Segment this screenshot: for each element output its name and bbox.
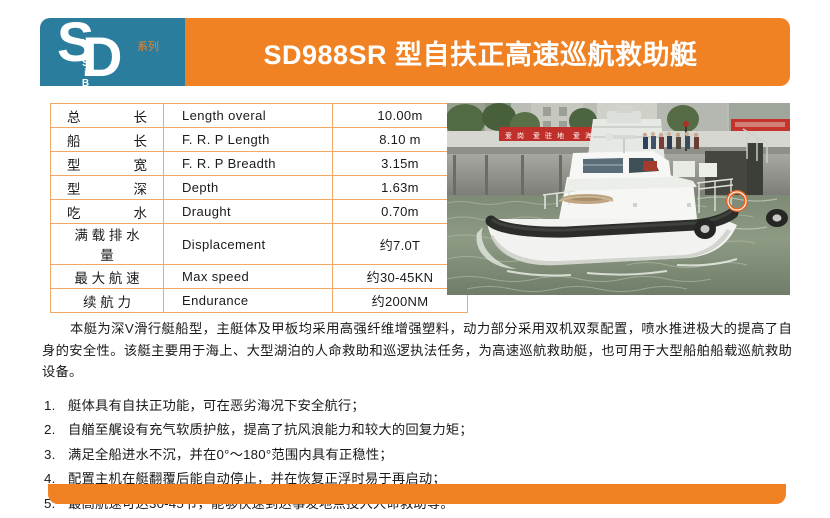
table-row: 型深 Depth 1.63m: [51, 176, 468, 200]
specification-table-body: 总长 Length overal 10.00m 船长 F. R. P Lengt…: [51, 104, 468, 313]
table-row: 续 航 力 Endurance 约200NM: [51, 289, 468, 313]
svg-text:驻: 驻: [545, 131, 552, 140]
logo-series-label: 系列: [137, 42, 159, 54]
spec-label-cn: 最 大 航 速: [51, 265, 164, 289]
spec-label-cn-char2: 宽: [134, 154, 148, 174]
list-item: 2. 自艏至艉设有充气软质护舷，提高了抗风浪能力和较大的回复力矩；: [42, 420, 792, 440]
list-item: 1. 艇体具有自扶正功能，可在恶劣海况下安全航行；: [42, 396, 792, 416]
table-row: 满 载 排 水 量 Displacement 约7.0T: [51, 224, 468, 265]
svg-text:岗: 岗: [517, 132, 524, 140]
boat-photo: 爱岗 爱驻地 爱海洋: [447, 103, 790, 295]
spec-label-cn-full: 续 航 力: [83, 291, 131, 311]
list-item-number: 2.: [42, 420, 68, 440]
spec-label-cn-char2: 水: [134, 202, 148, 222]
list-item: 3. 满足全船进水不沉，并在0°～180°范围内具有正稳性；: [42, 445, 792, 465]
svg-text:爱: 爱: [533, 132, 540, 140]
spec-label-cn: 型深: [51, 176, 164, 200]
logo-brand-vertical-text: HiSiBi: [80, 38, 90, 86]
specification-table: 总长 Length overal 10.00m 船长 F. R. P Lengt…: [50, 103, 468, 313]
table-row: 型宽 F. R. P Breadth 3.15m: [51, 152, 468, 176]
title-banner: SD988SR 型自扶正高速巡航救助艇: [185, 18, 790, 86]
spec-label-en: F. R. P Breadth: [164, 152, 333, 176]
spec-label-cn: 型宽: [51, 152, 164, 176]
table-row: 船长 F. R. P Length 8.10 m: [51, 128, 468, 152]
spec-label-cn-char1: 吃: [67, 202, 81, 222]
page-header: S D HiSiBi 系列 SD988SR 型自扶正高速巡航救助艇: [40, 18, 790, 86]
list-item-number: 1.: [42, 396, 68, 416]
spec-label-en: Length overal: [164, 104, 333, 128]
spec-label-en: Endurance: [164, 289, 333, 313]
spec-label-cn: 船长: [51, 128, 164, 152]
list-item-text: 自艏至艉设有充气软质护舷，提高了抗风浪能力和较大的回复力矩；: [68, 420, 792, 440]
spec-label-en: Depth: [164, 176, 333, 200]
spec-label-en: Max speed: [164, 265, 333, 289]
spec-label-cn-full: 满 载 排 水 量: [67, 224, 147, 264]
svg-text:地: 地: [557, 131, 564, 140]
page-title: SD988SR 型自扶正高速巡航救助艇: [263, 33, 697, 72]
spec-label-cn: 吃水: [51, 200, 164, 224]
spec-label-cn-char1: 型: [67, 178, 81, 198]
spec-label-en: Displacement: [164, 224, 333, 265]
spec-label-cn-char2: 长: [134, 130, 148, 150]
svg-text:爱: 爱: [573, 132, 580, 140]
spec-label-cn-full: 最 大 航 速: [74, 267, 139, 287]
spec-label-cn: 满 载 排 水 量: [51, 224, 164, 265]
company-logo: S D HiSiBi 系列: [40, 18, 185, 86]
list-item-number: 3.: [42, 445, 68, 465]
footer-bar: [48, 484, 786, 504]
spec-label-cn: 续 航 力: [51, 289, 164, 313]
svg-text:爱: 爱: [505, 132, 512, 140]
table-row: 最 大 航 速 Max speed 约30-45KN: [51, 265, 468, 289]
table-row: 总长 Length overal 10.00m: [51, 104, 468, 128]
content-row: 总长 Length overal 10.00m 船长 F. R. P Lengt…: [50, 103, 790, 295]
spec-label-cn: 总长: [51, 104, 164, 128]
spec-label-en: Draught: [164, 200, 333, 224]
spec-label-cn-char1: 总: [67, 106, 81, 126]
table-row: 吃水 Draught 0.70m: [51, 200, 468, 224]
spec-label-cn-char1: 船: [67, 130, 81, 150]
list-item-text: 艇体具有自扶正功能，可在恶劣海况下安全航行；: [68, 396, 792, 416]
spec-label-en: F. R. P Length: [164, 128, 333, 152]
spec-label-cn-char1: 型: [67, 154, 81, 174]
spec-label-cn-char2: 深: [134, 178, 148, 198]
list-item-text: 满足全船进水不沉，并在0°～180°范围内具有正稳性；: [68, 445, 792, 465]
description-paragraph: 本艇为深V滑行艇船型，主艇体及甲板均采用高强纤维增强塑料，动力部分采用双机双泵配…: [42, 318, 792, 383]
spec-label-cn-char2: 长: [134, 106, 148, 126]
